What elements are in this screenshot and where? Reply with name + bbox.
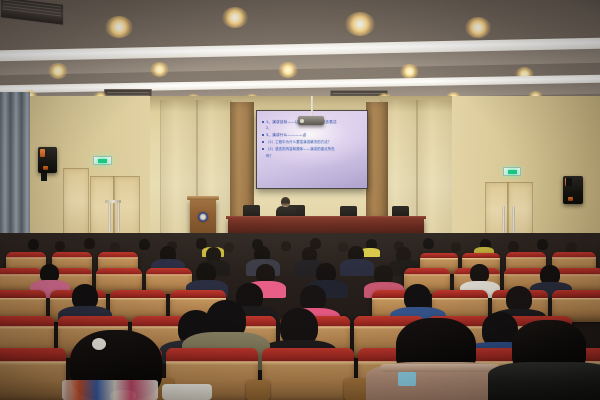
coat-collar [380, 364, 500, 372]
downlight [278, 62, 298, 78]
downlight [465, 17, 491, 38]
projector-mount-pole [311, 96, 313, 118]
slide-bullet-icon [262, 134, 264, 136]
door-push-bar[interactable] [117, 202, 120, 232]
institutional-seal-icon [198, 212, 208, 222]
speaker-bracket [41, 173, 47, 181]
speaker-bracket [566, 178, 572, 186]
wood-pilaster [366, 102, 388, 220]
audience-body [488, 362, 600, 400]
speaker-tweeter [40, 149, 45, 157]
door-cross-bar[interactable] [105, 200, 121, 203]
presenter-head [281, 197, 290, 207]
slide-line: （2）语言的内容和顺序——演讲的重点所在 [262, 147, 335, 151]
speaker-woofer [43, 166, 48, 170]
foreground-object [62, 380, 158, 400]
door-push-bar[interactable] [502, 206, 505, 234]
auditorium-seat[interactable] [262, 348, 354, 400]
slide-line-text: （1）工程中为什么要靠演讲解决的方法？ [266, 140, 331, 144]
foreground-object [162, 384, 212, 400]
lecture-hall-photo: 1、演讲目标——让全网都通过演讲去表达 2、 3、演讲什么————点 （1）工程… [0, 0, 600, 400]
exit-sign [93, 156, 112, 165]
door-push-bar[interactable] [108, 202, 111, 232]
slide-line: 3、演讲什么————点 [262, 133, 306, 137]
speaker-woofer [568, 197, 573, 201]
slide-line-text: 吗？ [266, 154, 273, 158]
seat-armrest [246, 380, 270, 400]
slide-line-text: 3、演讲什么————点 [266, 133, 306, 137]
slide-line: 2、 [266, 126, 272, 130]
downlight [400, 64, 419, 79]
door-push-bar[interactable] [512, 206, 515, 234]
downlight [222, 7, 248, 28]
hair-tie [92, 338, 106, 350]
slide-bullet-icon [262, 121, 264, 123]
downlight [150, 62, 169, 77]
wood-pilaster [230, 102, 254, 222]
wall-speaker-left [38, 147, 57, 173]
slide-bullet-icon [262, 141, 264, 143]
audience-person-beige-coat [372, 318, 502, 400]
slide-line-text: （2）语言的内容和顺序——演讲的重点所在 [266, 147, 335, 151]
lectern-top [187, 196, 219, 200]
projector-lens-icon [300, 119, 304, 123]
slide-line: 吗？ [266, 154, 273, 158]
foreground-object [398, 372, 416, 386]
exit-sign [503, 167, 521, 176]
downlight [105, 16, 133, 38]
slide-bullet-icon [262, 148, 264, 150]
slide-line: （1）工程中为什么要靠演讲解决的方法？ [262, 140, 331, 144]
downlight [48, 63, 68, 79]
downlight [345, 12, 375, 36]
audience-person-dark-jacket [498, 320, 600, 400]
slide-line-text: 2、 [266, 126, 272, 130]
seat-armrest [344, 378, 368, 400]
